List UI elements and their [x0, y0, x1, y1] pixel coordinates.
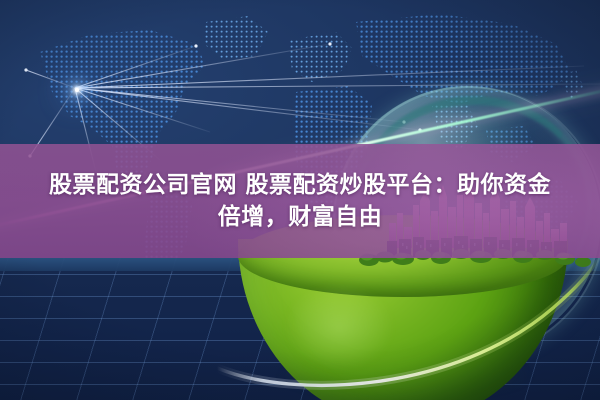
headline-line-1: 股票配资公司官网 股票配资炒股平台：助你资金 — [49, 172, 551, 198]
headline-line-2: 倍增，财富自由 — [218, 204, 383, 230]
banner-image: 股票配资公司官网 股票配资炒股平台：助你资金 倍增，财富自由 — [0, 0, 600, 400]
headline-text: 股票配资公司官网 股票配资炒股平台：助你资金 倍增，财富自由 — [0, 144, 600, 258]
